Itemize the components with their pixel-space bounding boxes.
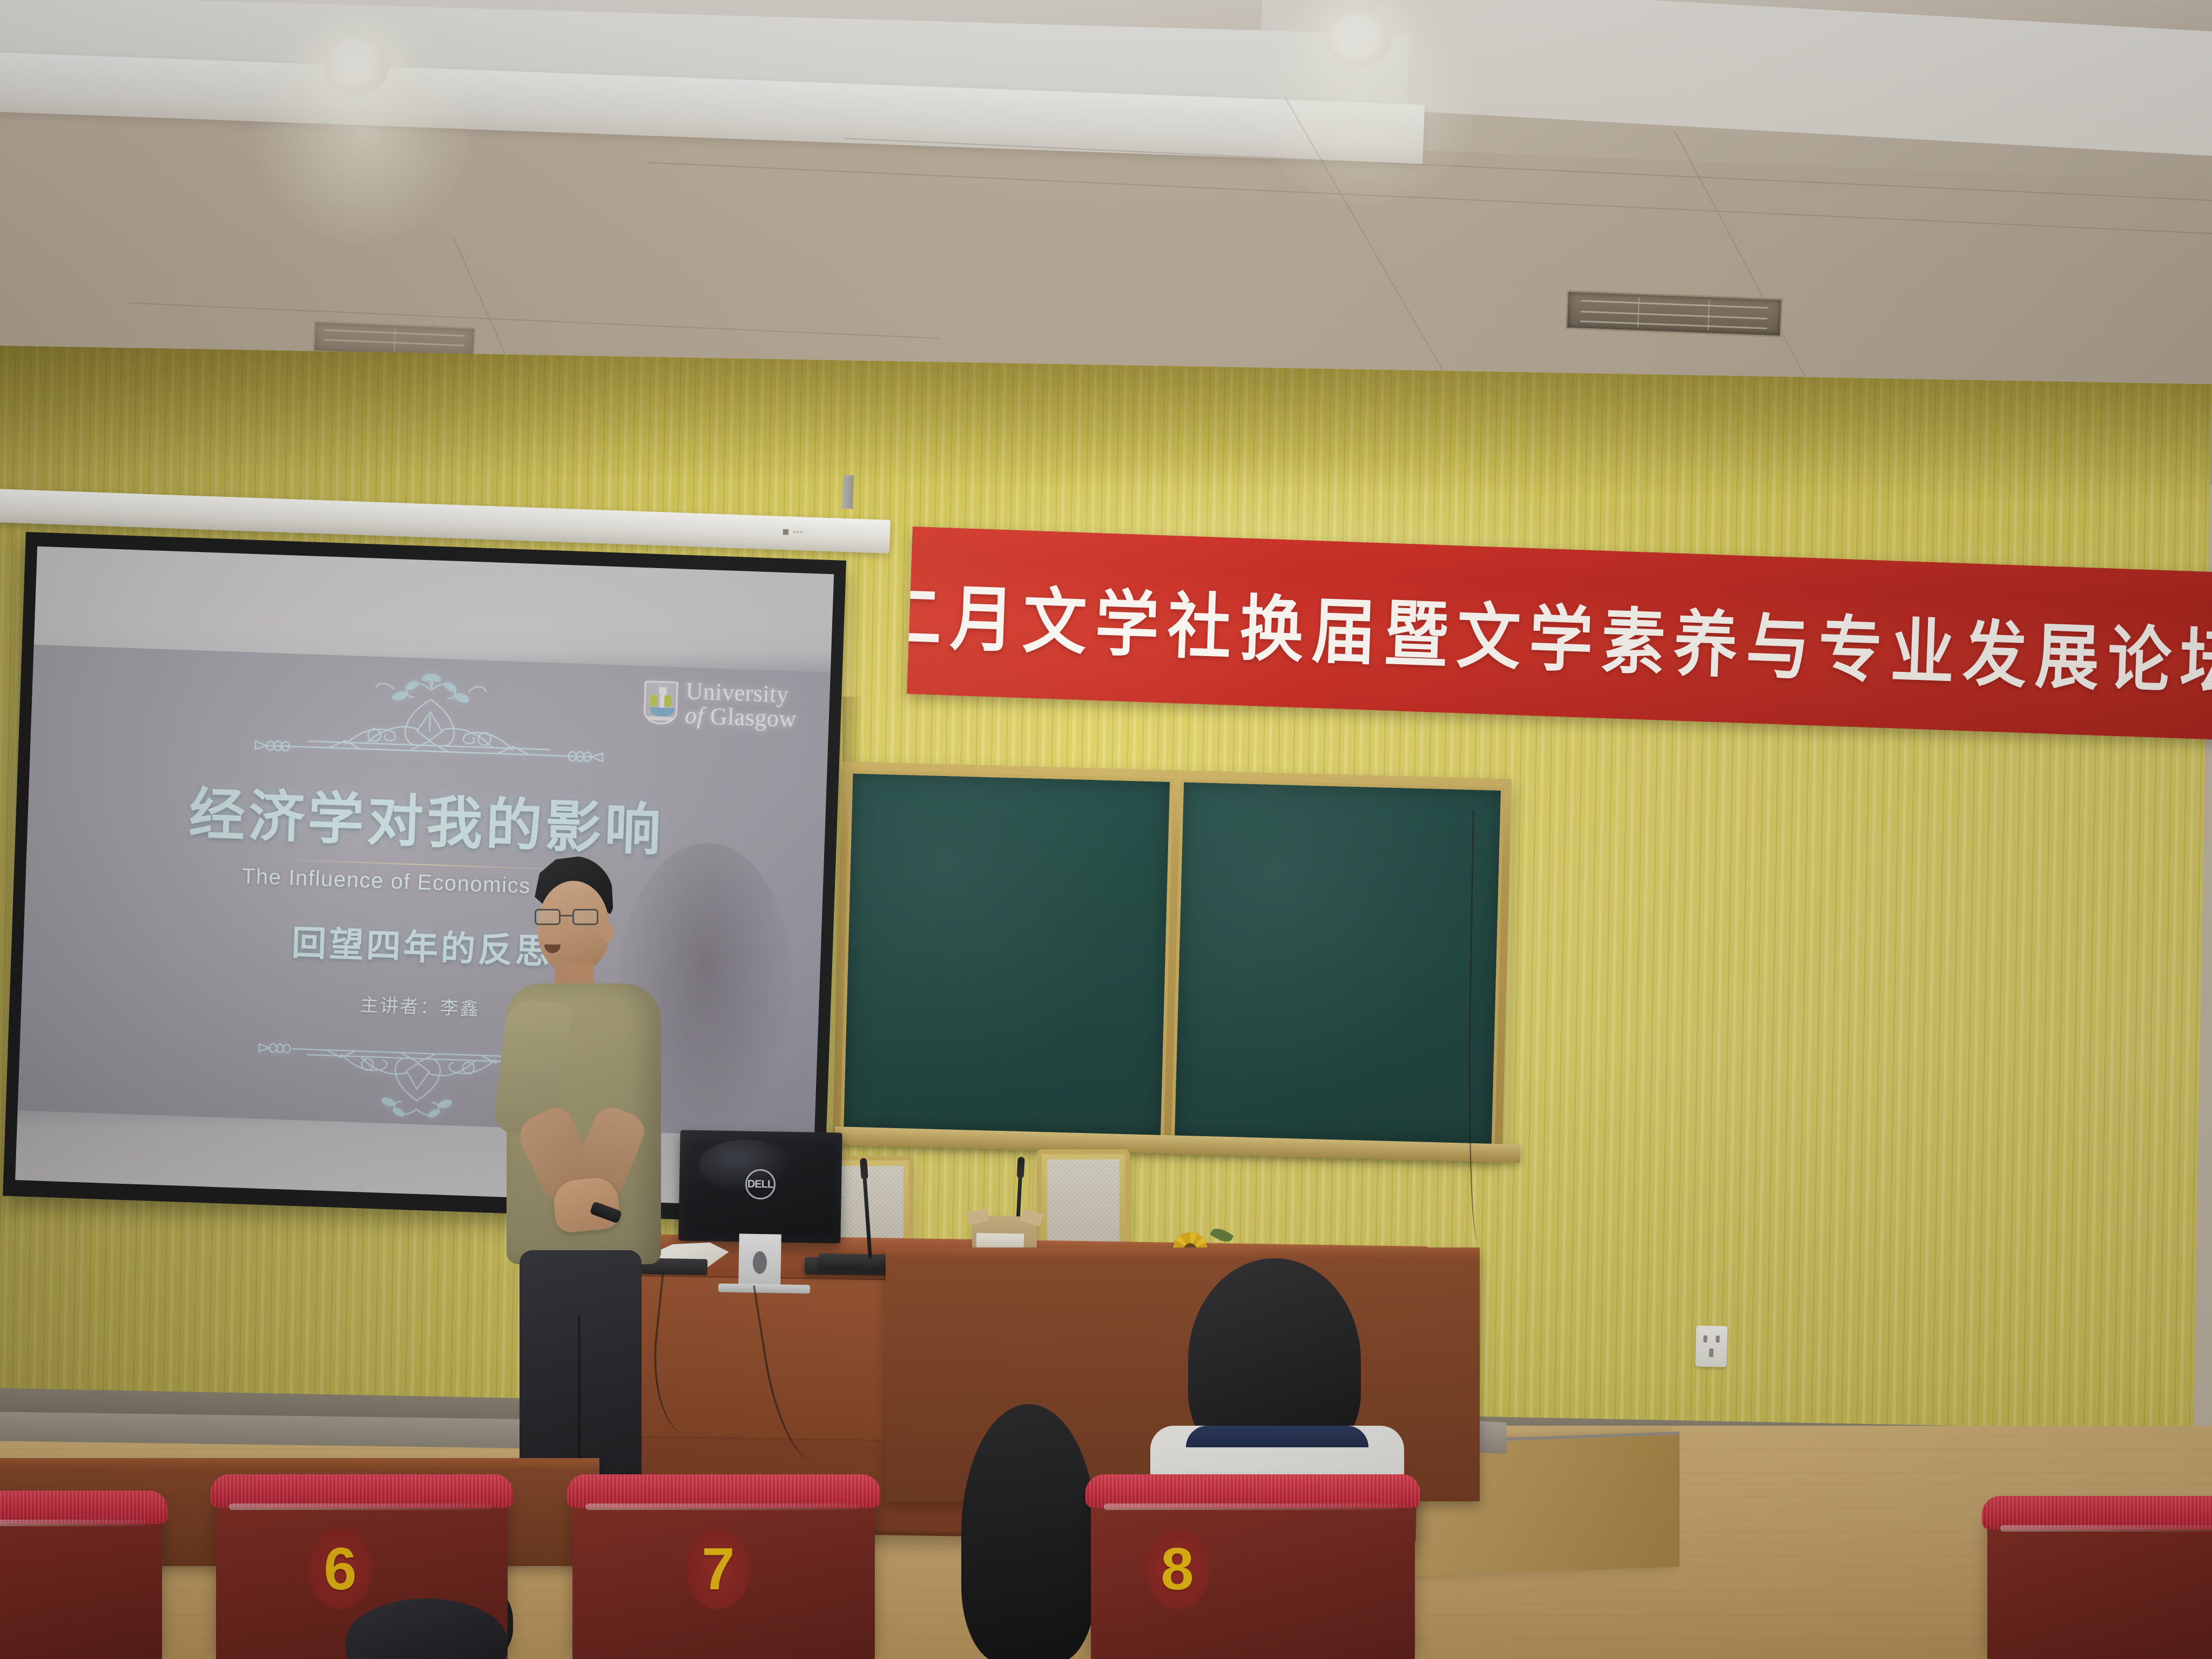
seat-number-badge: 7 [686, 1528, 751, 1609]
recessed-downlight-icon [324, 38, 389, 95]
dell-monitor[interactable]: DELL [678, 1130, 842, 1243]
presenter-ear [601, 923, 613, 942]
presentation-slide: University of Glasgow [18, 645, 831, 1138]
monitor-base [718, 1284, 810, 1294]
dell-logo-icon: DELL [745, 1169, 776, 1200]
audience-head-ponytail [961, 1404, 1096, 1659]
audience-seat[interactable] [0, 1507, 162, 1659]
chalkboard [833, 761, 1512, 1157]
presenter-trousers [520, 1250, 642, 1488]
housing-label: ◼ ▫▫▫ [782, 526, 804, 537]
ceiling-vent-grille-icon [1566, 290, 1783, 337]
ceiling [0, 0, 2212, 378]
presenter-person [502, 856, 664, 1504]
slide-content: 经济学对我的影响 The Influence of Economics On M… [18, 645, 831, 1138]
projector-screen-bracket [842, 475, 854, 509]
projection-screen-frame: University of Glasgow [3, 532, 846, 1224]
slide-presenter-line: 主讲者：李鑫 [360, 990, 481, 1021]
monitor-stand [738, 1233, 781, 1288]
wall-corner-shadow [842, 697, 864, 767]
microphone-base [819, 1253, 890, 1269]
audience-seat[interactable]: 8 [1091, 1491, 1415, 1659]
chalkboard-panel-left [840, 770, 1173, 1139]
audience-seat[interactable] [1987, 1512, 2212, 1659]
recessed-downlight-icon [1326, 12, 1392, 68]
presenter-head [538, 881, 609, 972]
power-outlet-icon[interactable] [1695, 1325, 1728, 1367]
slide-ornament-top-icon [185, 665, 675, 783]
jacket-collar [1186, 1426, 1368, 1447]
lecture-hall-photo: 二月文学社换届暨文学素养与专业发展论坛 ◼ ▫▫▫ University [0, 0, 2212, 1659]
projection-screen-surface: University of Glasgow [15, 547, 834, 1208]
presenter-glasses-icon [535, 909, 598, 925]
seat-number-badge: 8 [1145, 1528, 1210, 1609]
audience-seat[interactable]: 7 [572, 1491, 875, 1659]
seat-number-badge: 6 [308, 1528, 373, 1609]
chalkboard-panel-right [1171, 779, 1504, 1148]
slide-title-cn: 经济学对我的影响 [188, 767, 666, 866]
banner-title-text: 二月文学社换届暨文学素养与专业发展论坛 [907, 557, 2212, 709]
